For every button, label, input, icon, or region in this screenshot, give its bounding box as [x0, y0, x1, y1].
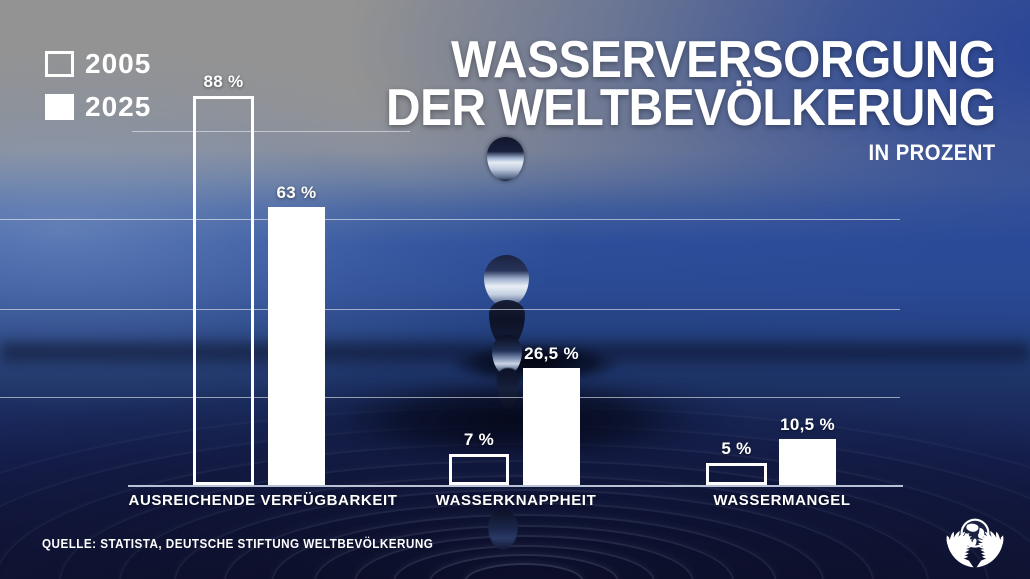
bar-value-label: 63 % — [277, 183, 317, 203]
bar-2005-1[interactable] — [193, 96, 254, 485]
headline-line-2: DER WELTBEVÖLKERUNG — [386, 84, 996, 132]
chart-legend: 2005 2025 — [45, 46, 151, 132]
legend-swatch-outline-icon — [45, 51, 74, 77]
bar-2025-1[interactable] — [268, 207, 325, 485]
category-label-3: WASSERMANGEL — [713, 492, 850, 509]
bar-value-label: 5 % — [721, 439, 751, 459]
bar-2025-2[interactable] — [523, 368, 580, 485]
category-label-2: WASSERKNAPPHEIT — [436, 492, 597, 509]
legend-label-2005: 2005 — [85, 50, 151, 78]
legend-swatch-filled-icon — [45, 94, 74, 120]
source-note: QUELLE: STATISTA, DEUTSCHE STIFTUNG WELT… — [42, 536, 433, 551]
headline-block: WASSERVERSORGUNG DER WELTBEVÖLKERUNG IN … — [333, 36, 996, 166]
headline-subtitle: IN PROZENT — [386, 140, 996, 166]
un-emblem-logo-icon — [936, 508, 1014, 572]
chart-gridline — [0, 397, 900, 398]
chart-gridline — [0, 309, 900, 310]
chart-gridline — [0, 219, 900, 220]
headline-line-1: WASSERVERSORGUNG — [386, 36, 996, 84]
bar-2005-3[interactable] — [706, 463, 767, 485]
bar-value-label: 26,5 % — [524, 344, 579, 364]
bar-value-label: 88 % — [204, 72, 244, 92]
category-label-1: AUSREICHENDE VERFÜGBARKEIT — [129, 492, 398, 509]
bar-2025-3[interactable] — [779, 439, 836, 485]
bar-2005-2[interactable] — [449, 454, 509, 485]
legend-item-2025[interactable]: 2025 — [45, 89, 151, 125]
legend-label-2025: 2025 — [85, 93, 151, 121]
legend-item-2005[interactable]: 2005 — [45, 46, 151, 82]
chart-baseline — [128, 485, 903, 487]
bar-value-label: 7 % — [464, 430, 494, 450]
bar-value-label: 10,5 % — [780, 415, 835, 435]
infographic-canvas: 88 %63 %AUSREICHENDE VERFÜGBARKEIT7 %26,… — [0, 0, 1030, 579]
